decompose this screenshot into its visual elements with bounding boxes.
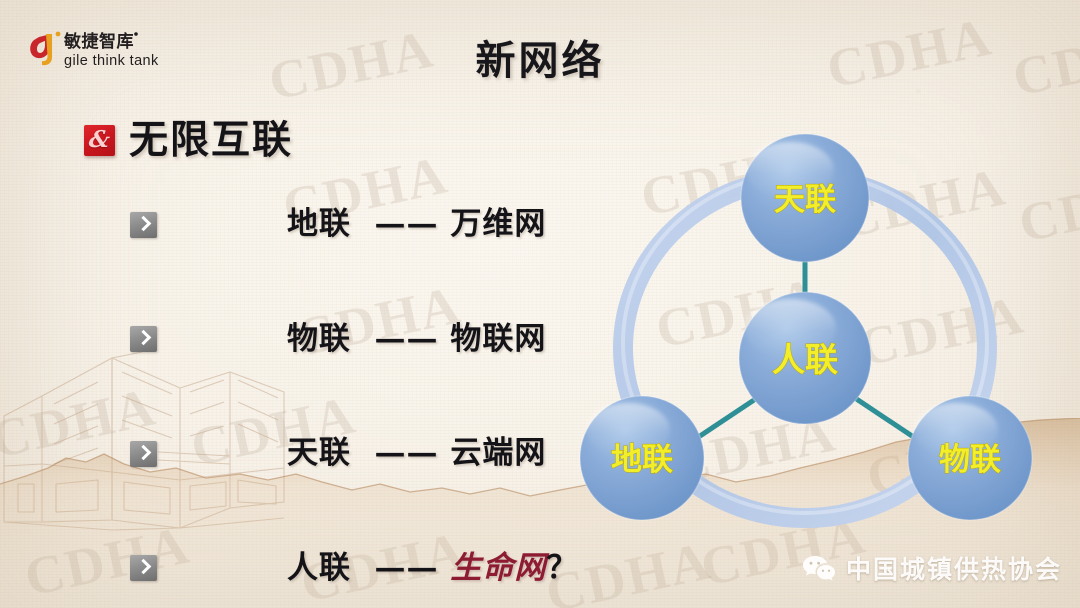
grey-chevron-marker-icon [130,555,157,581]
network-diagram-svg: 天联 人联 地联 物联 [560,110,1060,540]
list-item-label: 物联 —— 物联网 [169,283,546,395]
diagram-node-tianlian: 天联 [741,134,869,262]
diagram-node-dilian: 地联 [580,396,704,520]
wechat-icon-svg [802,554,836,582]
diagram-node-wulian: 物联 [908,396,1032,520]
red-square-marker-icon: & [84,125,115,156]
list-item-dash: —— [375,206,439,242]
grey-chevron-marker-icon [130,212,157,238]
diagram-node-label: 天联 [774,182,836,218]
list-item-label: 地联 —— 万维网 [169,169,546,281]
marker-glyph: & [88,128,111,151]
list-item-value: 云端网 [450,435,546,471]
footer-account: 中国城镇供热协会 [802,550,1062,586]
network-diagram: 天联 人联 地联 物联 [560,110,1060,540]
diagram-node-renlian: 人联 [739,292,871,424]
list-item-dash: —— [375,321,439,357]
list-item-label: 人联 —— 生命网？ [169,513,578,608]
slide-canvas: CDHA CDHA CDHA CDHA CDHA CDHA CDHA CDHA … [0,0,1080,608]
list-item-term: 天联 [287,435,351,471]
list-item-value: 万维网 [450,206,546,242]
footer-account-name: 中国城镇供热协会 [846,550,1062,586]
list-item-label: 天联 —— 云端网 [169,398,546,510]
diagram-node-label: 物联 [939,442,1001,478]
page-title: 新网络 [0,28,1080,86]
list-item-label: 无限互联 [129,118,293,163]
list-item-dash: —— [375,550,439,586]
diagram-node-label: 地联 [611,442,673,478]
list-item-value: 物联网 [450,321,546,357]
list-item-term: 人联 [287,550,351,586]
wechat-icon [802,554,836,582]
grey-chevron-marker-icon [130,326,157,352]
list-item-value-highlighted: 生命网 [450,550,546,586]
list-item-term: 物联 [287,321,351,357]
grey-chevron-marker-icon [130,441,157,467]
list-item-suffix: ？ [546,550,578,586]
diagram-node-label: 人联 [772,340,838,379]
list-item-dash: —— [375,435,439,471]
list-item-term: 地联 [287,206,351,242]
